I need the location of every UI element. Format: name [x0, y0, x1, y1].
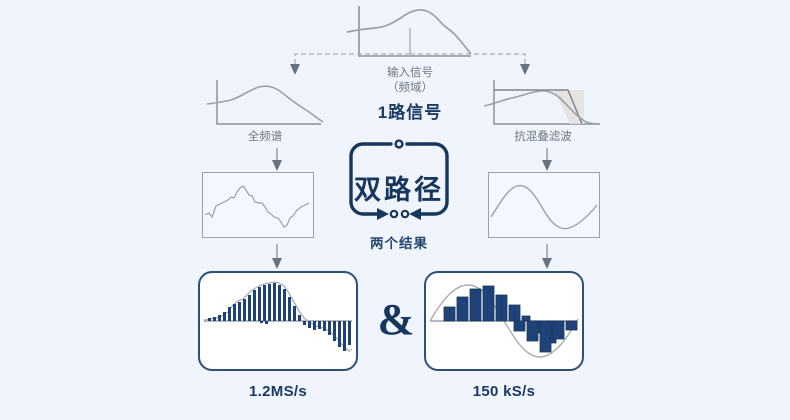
arrow-left-head-icon — [409, 208, 421, 220]
rate-label-high: 1.2MS/s — [198, 383, 358, 400]
result-card-high-rate — [198, 271, 358, 371]
top-node-circle-icon — [396, 141, 403, 148]
left-branch-caption: 全频谱 — [205, 128, 325, 144]
right-branch-caption: 抗混叠滤波 — [482, 128, 604, 144]
arrow-down-icon — [542, 258, 552, 269]
arrow-left-to-result — [270, 244, 284, 270]
arrow-down-icon — [272, 160, 282, 171]
result-card-low-rate — [424, 271, 584, 371]
sine-waveform-trace — [491, 186, 597, 229]
chart-antialias-filter — [482, 78, 604, 130]
dual-path-box: 双路径 — [347, 140, 451, 228]
result-dot-1-icon — [391, 211, 397, 217]
input-caption-line2: （频域） — [345, 79, 475, 95]
waveform-box-full-spectrum — [202, 172, 314, 238]
arrow-down-icon — [272, 258, 282, 269]
arrow-right-to-waveform — [540, 148, 554, 172]
diagram-canvas: 输入信号 （频域） 1路信号 全频谱 抗混叠滤波 — [0, 0, 790, 420]
spectrum-curve — [207, 86, 323, 122]
dual-path-label: 双路径 — [347, 168, 451, 207]
arrow-right-head-icon — [377, 208, 389, 220]
arrow-down-icon — [542, 160, 552, 171]
arrow-right-to-result — [540, 244, 554, 270]
sample-bars-group — [444, 286, 530, 321]
arrow-left-to-waveform — [270, 148, 284, 172]
noisy-waveform-trace — [205, 186, 309, 227]
branch-connectors — [285, 28, 535, 76]
waveform-box-filtered — [488, 172, 600, 238]
axis-lines — [494, 80, 600, 124]
result-dot-2-icon — [402, 211, 408, 217]
connector-right — [410, 54, 525, 64]
rate-label-low: 150 kS/s — [424, 383, 584, 400]
input-signal-count-label: 1路信号 — [345, 98, 475, 123]
arrow-right-icon — [520, 64, 530, 75]
sample-bars-group — [208, 283, 351, 351]
conjunction-symbol: & — [371, 298, 421, 342]
arrow-left-icon — [290, 64, 300, 75]
two-results-label: 两个结果 — [347, 232, 451, 252]
chart-full-spectrum — [205, 78, 325, 130]
connector-left — [295, 54, 410, 64]
